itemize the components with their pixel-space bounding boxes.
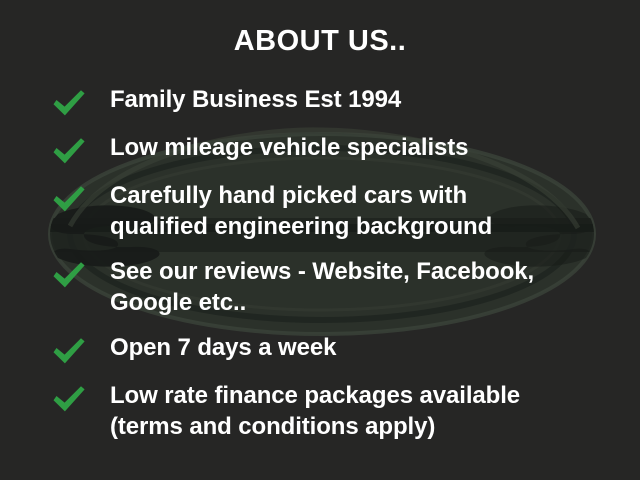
list-item-label: Open 7 days a week bbox=[110, 332, 624, 363]
list-item-label: Family Business Est 1994 bbox=[110, 84, 624, 115]
check-icon bbox=[52, 184, 86, 214]
list-item-label: Low rate finance packages available (ter… bbox=[110, 380, 624, 442]
list-item: Low rate finance packages available (ter… bbox=[52, 380, 624, 442]
check-icon bbox=[52, 336, 86, 366]
about-us-feature-list: Family Business Est 1994 Low mileage veh… bbox=[52, 84, 624, 456]
check-icon bbox=[52, 88, 86, 118]
list-item-label: Carefully hand picked cars with qualifie… bbox=[110, 180, 624, 242]
list-item-label: Low mileage vehicle specialists bbox=[110, 132, 624, 163]
list-item-label: See our reviews - Website, Facebook, Goo… bbox=[110, 256, 624, 318]
check-icon bbox=[52, 260, 86, 290]
check-icon bbox=[52, 384, 86, 414]
page-title: ABOUT US.. bbox=[0, 24, 640, 58]
list-item: See our reviews - Website, Facebook, Goo… bbox=[52, 256, 624, 318]
list-item: Family Business Est 1994 bbox=[52, 84, 624, 118]
list-item: Open 7 days a week bbox=[52, 332, 624, 366]
about-us-panel: ABOUT US.. Family Business Est 1994 Low … bbox=[0, 0, 640, 480]
check-icon bbox=[52, 136, 86, 166]
list-item: Carefully hand picked cars with qualifie… bbox=[52, 180, 624, 242]
list-item: Low mileage vehicle specialists bbox=[52, 132, 624, 166]
